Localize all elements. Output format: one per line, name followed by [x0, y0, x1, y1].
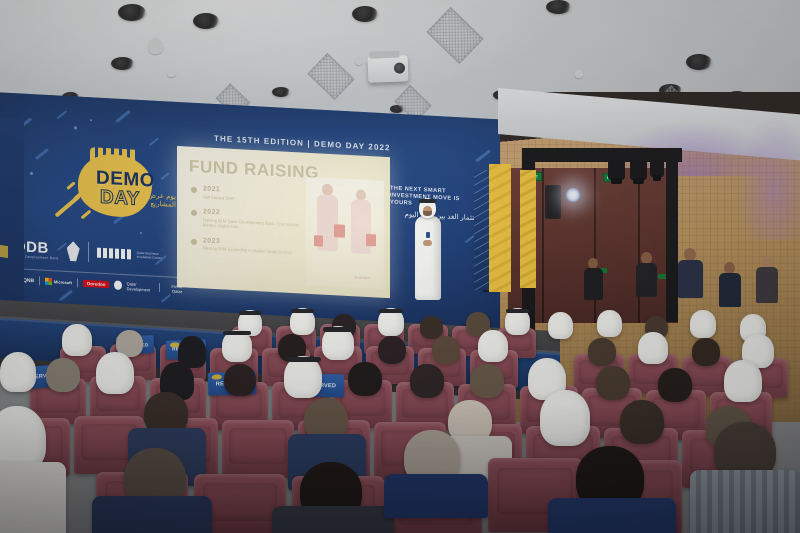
- attendee-shoulders: [548, 498, 676, 533]
- qdb-diamond-icon: [67, 241, 80, 262]
- attendee-head: [224, 364, 256, 396]
- attendee-ghutra: [62, 324, 92, 356]
- backdrop-decoration: [149, 137, 159, 146]
- sponsor-partner-row: QNB Microsoft Ooredoo Qatar Development …: [14, 274, 182, 294]
- qbic-subtitle: Qatar Business Incubation Center: [137, 251, 167, 261]
- logo-arabic-text: يوم عرض المشاريع: [138, 192, 176, 210]
- stage-light-fixture: [650, 159, 664, 177]
- person-torso: [584, 268, 603, 300]
- decorative-pillar: [520, 170, 536, 288]
- slide-bullet: 2022 Raising $1M Qatar Development Bank …: [191, 208, 311, 234]
- attendee-head: [420, 316, 443, 339]
- attendee-shoulders: [690, 470, 800, 533]
- backdrop-decoration: [74, 126, 77, 129]
- attendee-head: [410, 364, 444, 398]
- backdrop-decoration: [475, 149, 491, 162]
- slide-bullet-list: 2021 Self funded QAR 2022 Raising $1M Qa…: [191, 185, 311, 266]
- sprinkler-head: [148, 38, 163, 54]
- speaker-hands: [423, 240, 432, 246]
- bullet-dot-icon: [191, 187, 197, 193]
- partner-label: Microsoft: [54, 279, 72, 285]
- stage-light-fixture: [630, 160, 647, 180]
- ceiling-downlight: [193, 13, 219, 29]
- attendee-agal: [506, 309, 529, 313]
- bullet-dot-icon: [191, 238, 197, 244]
- speaker-thobe: [415, 216, 441, 300]
- logo-trail: [81, 210, 92, 220]
- attendee-agal: [379, 309, 403, 313]
- shopping-bag-icon: [366, 234, 376, 247]
- event-photograph: DEMO DAY يوم عرض المشاريع THE 15TH EDITI…: [0, 0, 800, 533]
- attendee-ghutra: [638, 332, 668, 364]
- decorative-pillar: [489, 164, 511, 292]
- slide-illustration: Illustration: [306, 177, 384, 289]
- attendee-head: [658, 368, 692, 402]
- slide-bullet: 2023 Raising $5M Expanding to Market Sca…: [191, 236, 311, 256]
- partner-logo-microsoft: Microsoft: [45, 277, 72, 287]
- stage-speaker: [411, 198, 445, 303]
- attendee-ghutra: [690, 310, 716, 338]
- qbic-mark-icon: [97, 248, 133, 260]
- attendee-ghutra: [284, 356, 322, 398]
- decorative-pillar: [474, 170, 490, 290]
- sprinkler-head: [355, 56, 363, 65]
- person-torso: [678, 260, 703, 298]
- backdrop-decoration: [35, 148, 49, 160]
- beam-spotlight: [566, 188, 580, 202]
- speaker-beard: [423, 211, 432, 216]
- attendee-head: [470, 364, 504, 398]
- divider: [159, 283, 160, 292]
- attendee-shoulders: [92, 496, 212, 533]
- attendee-head: [378, 336, 406, 364]
- attendee-agal: [239, 311, 261, 315]
- divider: [88, 242, 89, 262]
- partner-logo-qatar-development: Qatar Development: [127, 281, 154, 292]
- partner-logo-ooredoo: Ooredoo: [83, 280, 110, 288]
- logo-trail: [66, 181, 75, 190]
- pa-speaker: [545, 185, 561, 219]
- divider: [77, 278, 78, 287]
- attendee-head: [620, 400, 664, 444]
- purple-uplight: [740, 120, 800, 240]
- attendee-head: [588, 338, 616, 366]
- projection-screen: FUND RAISING 2021 Self funded QAR 2022 R…: [177, 146, 390, 298]
- speaker-agal: [419, 199, 436, 203]
- ceiling-projector: [368, 55, 409, 82]
- divider: [39, 276, 40, 285]
- attendee-agal: [323, 327, 353, 332]
- attendee-agal: [291, 309, 314, 313]
- attendee-head: [432, 336, 460, 364]
- attendee-ghutra: [724, 360, 762, 402]
- attendee-shoulders: [384, 474, 488, 518]
- attendee-shoulders: [0, 462, 66, 533]
- sprinkler-head: [167, 68, 176, 77]
- speaker-badge: [426, 232, 430, 238]
- attendee-ghutra: [548, 312, 573, 339]
- ceiling-downlight: [352, 6, 378, 22]
- auditorium-seat[interactable]: [222, 420, 294, 478]
- microsoft-squares-icon: [45, 278, 52, 285]
- attendee-head: [348, 362, 382, 396]
- illustration-caption: Illustration: [355, 275, 370, 280]
- backdrop-decoration: [90, 119, 92, 121]
- attendee-head: [692, 338, 720, 366]
- attendee-ghutra: [96, 352, 134, 394]
- ceiling-downlight: [272, 87, 290, 97]
- attendee-ghutra: [0, 352, 36, 392]
- attendee-agal: [285, 357, 321, 362]
- panel-badge: [0, 244, 8, 259]
- ceiling-downlight: [111, 57, 134, 70]
- shopping-bag-icon: [334, 224, 345, 238]
- auditorium-seating: RESERVED RESERVED RESERVE: [0, 300, 800, 533]
- ceiling-downlight: [118, 4, 146, 21]
- attendee-ghutra: [597, 310, 622, 337]
- ceiling-downlight: [546, 0, 571, 14]
- attendee-head: [46, 358, 80, 392]
- attendee-agal: [223, 331, 251, 335]
- bullet-dot-icon: [191, 210, 197, 216]
- backdrop-decoration: [30, 172, 33, 175]
- person-torso: [636, 263, 657, 297]
- ceiling-downlight: [686, 54, 712, 70]
- attendee-ghutra: [478, 330, 508, 362]
- backdrop-decoration: [140, 232, 142, 234]
- sponsor-primary-row: QDB Qatar Development Bank Qatar Busines…: [14, 235, 182, 270]
- lighting-truss: [666, 150, 678, 322]
- attendee-shoulders: [272, 506, 394, 533]
- sponsor-lockup: QDB Qatar Development Bank Qatar Busines…: [14, 235, 182, 294]
- partner-logo-qatar-charity: [114, 281, 121, 290]
- demo-day-logo: DEMO DAY يوم عرض المشاريع: [52, 143, 170, 233]
- logo-day-text: DAY: [100, 187, 140, 211]
- backdrop-decoration: [57, 110, 67, 119]
- sprinkler-head: [575, 70, 583, 78]
- stage-light-fixture: [608, 160, 625, 180]
- person-torso: [756, 267, 778, 303]
- qbic-logo: Qatar Business Incubation Center: [97, 248, 167, 262]
- partner-label: QNB: [23, 277, 34, 284]
- attendee-head: [596, 366, 630, 400]
- attendee-ghutra: [540, 390, 590, 446]
- backdrop-decoration: [115, 110, 131, 123]
- shopping-bag-icon: [314, 235, 323, 246]
- logo-trail: [54, 206, 67, 218]
